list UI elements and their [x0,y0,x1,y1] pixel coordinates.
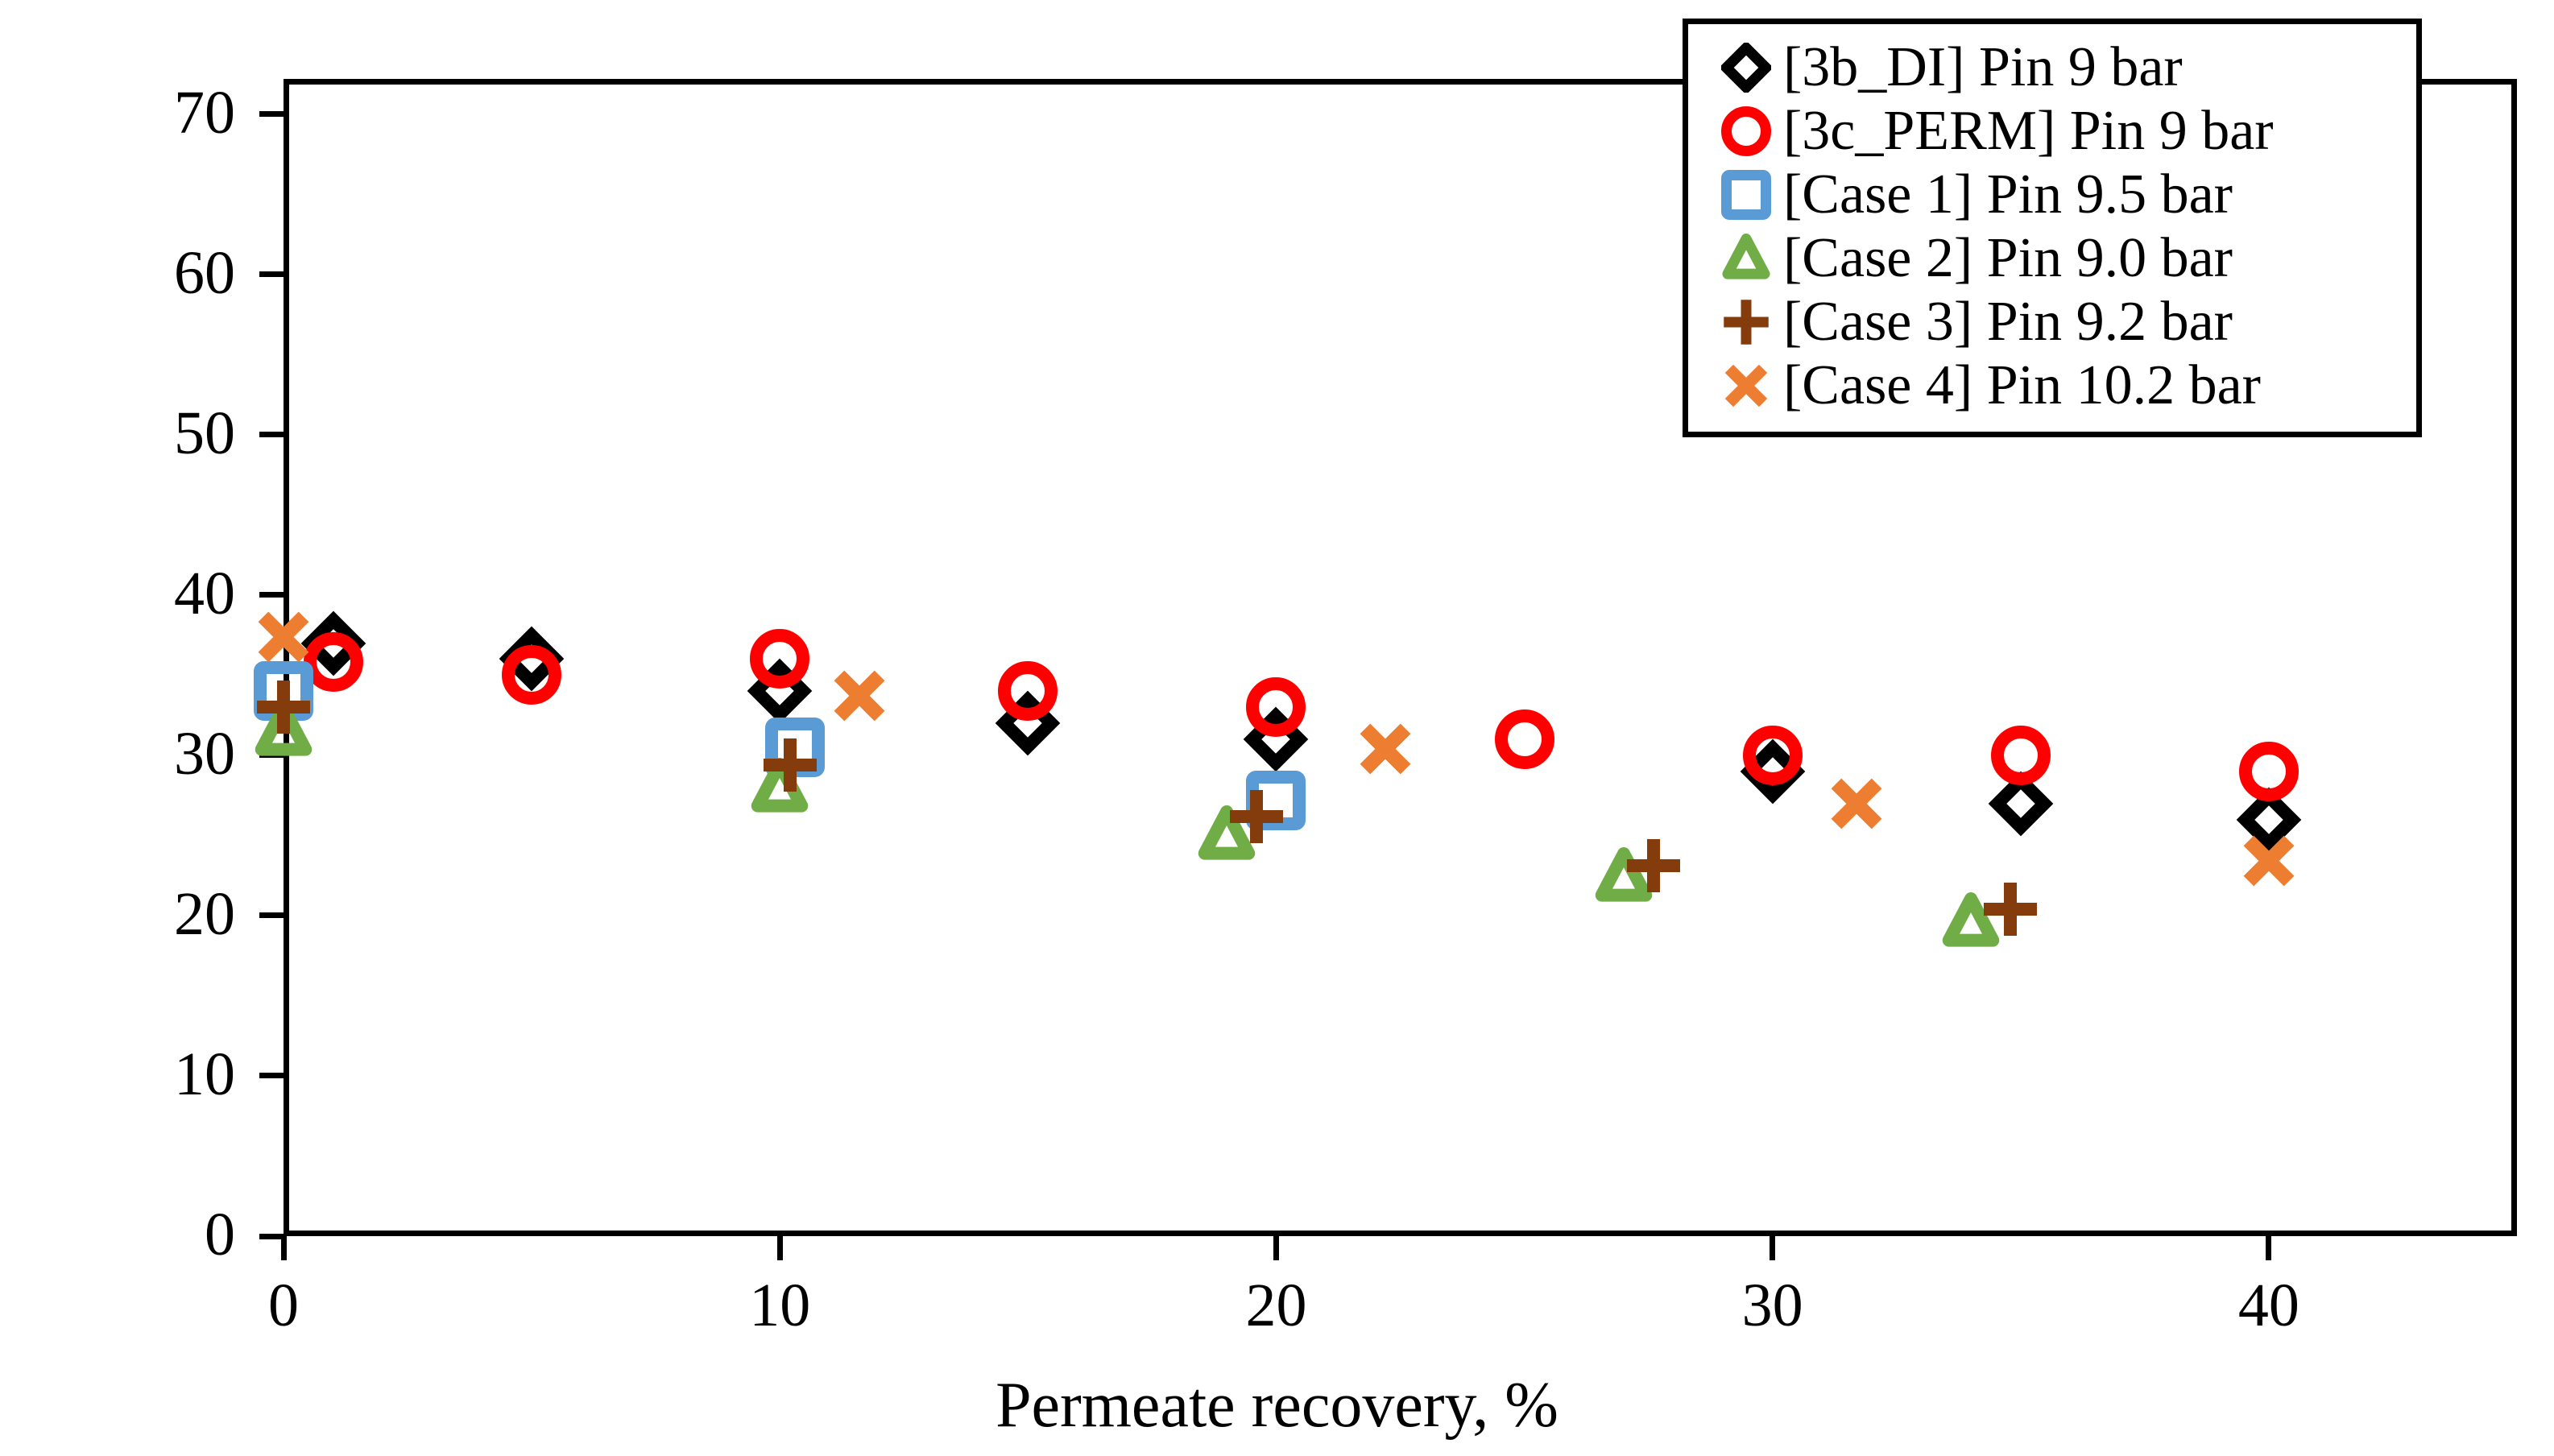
x-axis-tick-label: 40 [2172,1275,2366,1336]
data-point-marker [2239,742,2299,801]
y-axis-tick [259,1073,284,1078]
data-point-marker [254,677,313,737]
legend-marker-circle-icon [1709,99,1783,163]
data-point-marker [750,661,809,721]
data-point-marker [304,614,363,673]
legend-marker-diamond-icon [1709,35,1783,99]
data-point-marker [750,758,809,817]
chart-figure: 010203040506070010203040 Flux, L/m2h Per… [0,0,2554,1456]
data-point-marker [1827,774,1886,833]
data-point-marker [254,661,313,721]
data-point-marker [2239,790,2299,850]
data-point-marker [1495,709,1554,769]
data-point-marker [1941,892,2001,952]
data-point-marker [304,632,363,692]
y-axis-tick [259,271,284,277]
data-point-marker [1246,677,1306,737]
x-axis-tick [281,1236,287,1260]
data-point-marker [502,629,561,689]
x-axis-tick-label: 20 [1179,1275,1372,1336]
legend-item[interactable]: [Case 3] Pin 9.2 bar [1709,290,2402,354]
data-point-marker [760,735,820,795]
data-point-marker [1991,726,2051,785]
data-point-marker [502,645,561,705]
data-point-marker [830,666,889,726]
y-axis-tick [259,1234,284,1239]
y-axis-tick [259,432,284,437]
data-point-marker [1227,787,1286,846]
x-axis-tick-label: 30 [1676,1275,1869,1336]
y-axis-tick [259,752,284,758]
legend-item[interactable]: [3c_PERM] Pin 9 bar [1709,99,2402,163]
y-axis-tick-label: 0 [42,1204,235,1265]
legend-item[interactable]: [Case 1] Pin 9.5 bar [1709,163,2402,226]
data-point-marker [1356,719,1415,779]
legend-marker-triangle-icon [1709,226,1783,290]
legend-marker-square-icon [1709,163,1783,226]
legend-item-label: [Case 3] Pin 9.2 bar [1783,294,2233,350]
y-axis-tick-label: 60 [42,242,235,304]
y-axis-tick-label: 50 [42,403,235,464]
data-point-marker [1197,805,1256,865]
legend-marker-plus-icon [1709,290,1783,354]
legend-item-label: [Case 2] Pin 9.0 bar [1783,230,2233,287]
x-axis-tick [1770,1236,1775,1260]
legend-item-label: [Case 1] Pin 9.5 bar [1783,167,2233,223]
data-point-marker [1743,742,1803,801]
legend-item-label: [Case 4] Pin 10.2 bar [1783,358,2261,414]
legend-item-label: [3b_DI] Pin 9 bar [1783,39,2183,96]
y-axis-tick [259,111,284,117]
data-point-marker [2239,831,2299,891]
data-point-marker [998,693,1058,753]
y-axis-tick-label: 20 [42,883,235,945]
data-point-marker [1743,726,1803,785]
x-axis-title: Permeate recovery, % [0,1369,2554,1442]
data-point-marker [1594,847,1654,907]
y-axis-tick [259,592,284,598]
legend-item[interactable]: [Case 4] Pin 10.2 bar [1709,354,2402,417]
legend-marker-cross-icon [1709,354,1783,417]
legend-item[interactable]: [3b_DI] Pin 9 bar [1709,35,2402,99]
data-point-marker [765,718,825,777]
data-point-marker [1246,771,1306,830]
data-point-marker [998,661,1058,721]
data-point-marker [254,607,313,667]
y-axis-tick-label: 70 [42,82,235,143]
legend-item-label: [3c_PERM] Pin 9 bar [1783,103,2274,159]
y-axis-tick [259,912,284,918]
data-point-marker [750,629,809,689]
x-axis-tick [1273,1236,1279,1260]
y-axis-tick-label: 10 [42,1044,235,1105]
chart-legend: [3b_DI] Pin 9 bar[3c_PERM] Pin 9 bar[Cas… [1683,19,2422,437]
data-point-marker [1981,879,2040,939]
data-point-marker [1246,709,1306,769]
x-axis-tick [777,1236,783,1260]
legend-item[interactable]: [Case 2] Pin 9.0 bar [1709,226,2402,290]
x-axis-tick-label: 10 [683,1275,876,1336]
data-point-marker [1991,774,2051,833]
x-axis-tick [2266,1236,2271,1260]
y-axis-tick-label: 40 [42,563,235,624]
y-axis-tick-label: 30 [42,723,235,784]
data-point-marker [1624,836,1683,896]
x-axis-tick-label: 0 [187,1275,380,1336]
